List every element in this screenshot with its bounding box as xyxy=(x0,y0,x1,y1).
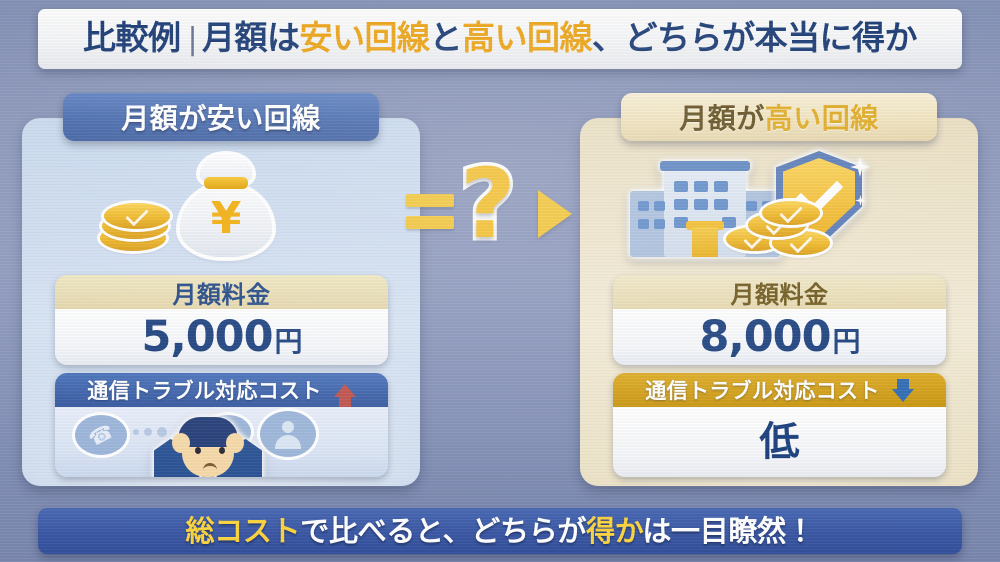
expensive-fee-unit: 円 xyxy=(833,325,860,358)
man-hand-left xyxy=(172,433,190,453)
question-mark-icon: ? xyxy=(460,156,516,252)
footer-banner: 総コストで比べると、どちらが得かは一目瞭然！ xyxy=(38,508,962,554)
cheap-fee-label: 月額料金 xyxy=(55,275,388,309)
cheap-fee-value-row: 5,000円 xyxy=(55,309,388,365)
man-eye-left xyxy=(195,447,201,454)
cheap-badge-highlight: 安い回線 xyxy=(207,97,321,137)
man-hand-right xyxy=(226,433,244,453)
expensive-trouble-label: 通信トラブル対応コスト xyxy=(645,375,879,405)
cheap-fee-number: 5,000 xyxy=(141,312,272,362)
man-eye-right xyxy=(219,447,225,454)
person-bubble-icon xyxy=(260,411,316,457)
footer-highlight-total-cost: 総コスト xyxy=(185,514,300,548)
title-body-2: と xyxy=(430,18,463,57)
footer-highlight-benefit: 得か xyxy=(586,514,642,548)
footer-body-1: で比べると、どちらが xyxy=(300,514,586,548)
expensive-fee-label: 月額料金 xyxy=(613,275,946,309)
title-body-3: 、どちらが本当に得か xyxy=(592,18,917,57)
cheap-trouble-label: 通信トラブル対応コスト xyxy=(87,375,321,405)
expensive-trouble-bar: 通信トラブル対応コスト xyxy=(613,373,946,407)
expensive-fee-amount: 8,000円 xyxy=(699,316,859,359)
expensive-line-artwork xyxy=(580,145,978,265)
expensive-trouble-value: 低 xyxy=(760,422,800,462)
page-title: 比較例|月額は安い回線と高い回線、どちらが本当に得か xyxy=(83,21,917,55)
expensive-fee-value-row: 8,000円 xyxy=(613,309,946,365)
trouble-illustration: ☎ ! xyxy=(55,407,388,477)
coin-pile-icon xyxy=(726,201,846,257)
title-body-1: 月額は xyxy=(202,18,300,57)
slide-background: 比較例|月額は安い回線と高い回線、どちらが本当に得か 月額が安い回線 ¥ 月額料… xyxy=(0,0,1000,562)
coin-stack-icon xyxy=(100,203,174,255)
cheap-trouble-bar: 通信トラブル対応コスト xyxy=(55,373,388,407)
title-highlight-expensive: 高い回線 xyxy=(462,18,592,57)
phone-bubble-icon: ☎ xyxy=(75,415,127,455)
expensive-line-badge: 月額が高い回線 xyxy=(621,93,937,141)
expensive-badge-highlight: 高い回線 xyxy=(765,97,879,137)
expensive-fee-number: 8,000 xyxy=(699,312,830,362)
cheap-fee-unit: 円 xyxy=(275,325,302,358)
title-highlight-cheap: 安い回線 xyxy=(300,18,430,57)
cheap-trouble-scene: ☎ ! xyxy=(55,407,388,477)
triangle-right-icon xyxy=(538,190,572,238)
cheap-fee-amount: 5,000円 xyxy=(141,316,301,359)
arrow-down-icon xyxy=(892,389,914,402)
expensive-badge-plain: 月額が xyxy=(679,97,765,137)
expensive-trouble-cost-card: 通信トラブル対応コスト 低 xyxy=(613,373,946,477)
cheap-line-badge: 月額が安い回線 xyxy=(63,93,379,141)
person-icon xyxy=(273,419,303,449)
arrow-up-icon xyxy=(334,384,356,397)
yen-symbol-icon: ¥ xyxy=(172,197,280,241)
building-door xyxy=(692,227,718,257)
cheap-line-artwork: ¥ xyxy=(22,145,420,265)
money-bag-icon: ¥ xyxy=(172,155,280,259)
building-roof xyxy=(660,161,750,171)
title-label: 比較例 xyxy=(83,18,181,57)
worried-man-icon xyxy=(150,409,266,477)
title-bar: 比較例|月額は安い回線と高い回線、どちらが本当に得か xyxy=(38,9,962,69)
coin xyxy=(104,203,170,229)
footer-text: 総コストで比べると、どちらが得かは一目瞭然！ xyxy=(185,517,814,546)
coin xyxy=(762,201,820,225)
equals-icon xyxy=(406,194,454,229)
title-separator: | xyxy=(187,22,197,57)
cheap-monthly-fee-card: 月額料金 5,000円 xyxy=(55,275,388,365)
check-icon xyxy=(779,200,802,223)
expensive-trouble-value-row: 低 xyxy=(613,407,946,477)
footer-body-2: は一目瞭然！ xyxy=(642,514,814,548)
expensive-monthly-fee-card: 月額料金 8,000円 xyxy=(613,275,946,365)
cheap-badge-plain: 月額が xyxy=(121,97,207,137)
man-mouth xyxy=(203,463,217,473)
money-bag-tie xyxy=(204,177,248,189)
check-icon xyxy=(125,203,148,226)
cheap-trouble-cost-card: 通信トラブル対応コスト ☎ ! xyxy=(55,373,388,477)
comparison-glyphs: ? xyxy=(404,168,580,262)
phone-icon: ☎ xyxy=(84,419,117,452)
